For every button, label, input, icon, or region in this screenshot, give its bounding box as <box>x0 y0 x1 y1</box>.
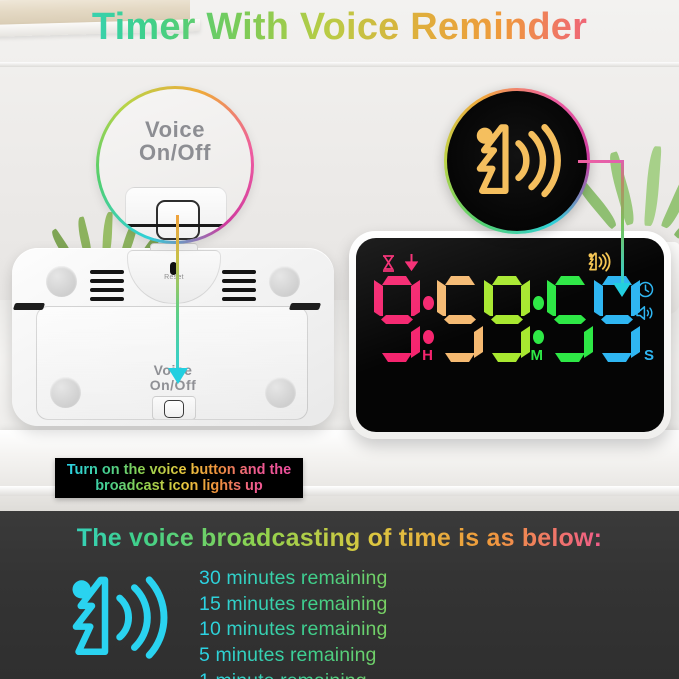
connector-arrow-voice <box>168 368 188 384</box>
wall-trim-line <box>0 62 679 67</box>
unit-mark-seconds: S <box>644 347 654 364</box>
led-time-readout: H <box>374 276 640 362</box>
speaker-grille <box>90 288 124 292</box>
led-colon-1 <box>421 276 436 362</box>
reset-label: Reset <box>152 274 196 281</box>
connector-line-broadcast-h <box>578 160 624 163</box>
list-item: 15 minutes remaining <box>199 592 639 618</box>
product-infographic: Reset Voice On/Off <box>0 0 679 679</box>
arrow-down-icon <box>405 254 418 272</box>
speaker-grille <box>90 297 124 301</box>
side-notch-right <box>289 303 321 310</box>
speaker-grille <box>222 279 256 283</box>
voice-broadcast-icon <box>66 574 170 667</box>
rubber-foot <box>50 377 81 408</box>
list-item: 30 minutes remaining <box>199 566 639 592</box>
voice-announcement-list: 30 minutes remaining 15 minutes remainin… <box>199 566 639 679</box>
speaker-grille <box>222 270 256 274</box>
page-title-text: Timer With Voice Reminder <box>92 6 587 48</box>
speaker-grille <box>90 270 124 274</box>
rubber-foot <box>46 266 77 297</box>
led-screen: H <box>356 238 664 432</box>
voice-broadcast-active-icon <box>587 252 611 277</box>
connector-line-broadcast-v <box>621 160 624 286</box>
led-colon-2 <box>531 276 546 362</box>
rubber-foot <box>269 266 300 297</box>
led-digit-seconds-tens <box>547 276 593 362</box>
led-digit-minutes-ones: M <box>484 276 530 362</box>
caption-strip: Turn on the voice button and the broadca… <box>55 458 303 498</box>
product-photo-scene: Reset Voice On/Off <box>0 0 679 512</box>
list-item: 5 minutes remaining <box>199 643 639 669</box>
hourglass-icon <box>382 255 395 272</box>
led-digit-hours: H <box>374 276 420 362</box>
caption-line2: broadcast icon lights up <box>95 478 263 494</box>
broadcast-icon-zoom-callout <box>444 88 590 234</box>
voice-broadcast-icon <box>471 122 563 200</box>
page-title: Timer With Voice Reminder <box>0 6 679 49</box>
side-notch-left <box>13 303 45 310</box>
caption-text: Turn on the voice button and the broadca… <box>67 462 291 494</box>
speaker-grille <box>222 288 256 292</box>
connector-arrow-broadcast <box>613 283 631 297</box>
rubber-foot <box>265 377 296 408</box>
led-digit-minutes-tens <box>437 276 483 362</box>
zoom-voice-label: Voice On/Off <box>99 119 251 165</box>
list-item: 1 minute remaining <box>199 669 639 679</box>
zoom-device-edge <box>99 224 251 227</box>
caption-line1: Turn on the voice button and the <box>67 462 291 478</box>
zoom-voice-label-line2: On/Off <box>139 140 211 165</box>
display-top-icons <box>382 254 418 272</box>
voice-on-off-switch[interactable] <box>152 396 196 420</box>
voice-switch-zoom-callout: Voice On/Off <box>96 86 254 244</box>
zoom-voice-label-line1: Voice <box>145 117 205 142</box>
connector-line-voice <box>176 215 179 373</box>
bottom-panel-title: The voice broadcasting of time is as bel… <box>0 524 679 553</box>
speaker-grille <box>222 297 256 301</box>
voice-broadcast-info-panel: The voice broadcasting of time is as bel… <box>0 511 679 679</box>
list-item: 10 minutes remaining <box>199 617 639 643</box>
speaker-grille <box>90 279 124 283</box>
